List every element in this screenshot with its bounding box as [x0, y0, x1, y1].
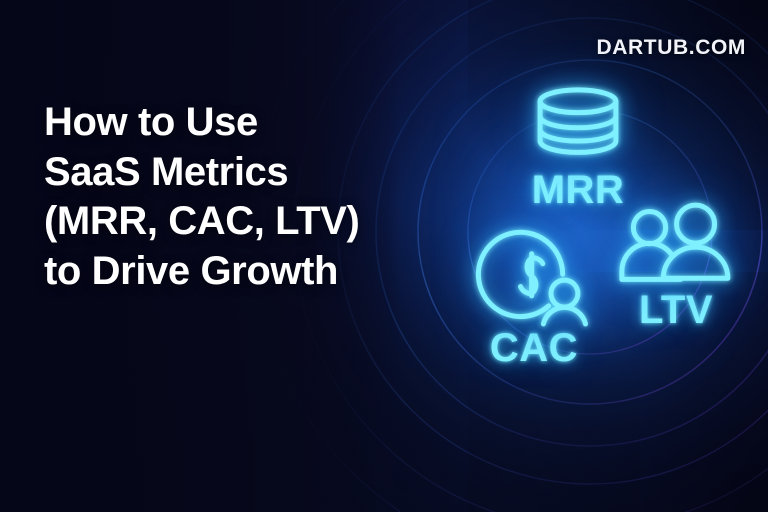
- two-people-icon: [615, 208, 737, 284]
- metric-mrr: MRR: [505, 88, 651, 213]
- dollar-circle-person-icon: [470, 228, 598, 324]
- metric-cac-label: CAC: [470, 326, 598, 371]
- metric-ltv: LTV: [615, 208, 737, 333]
- banner-canvas: DARTUB.COM How to Use SaaS Metrics (MRR,…: [0, 0, 768, 512]
- metric-ltv-label: LTV: [615, 288, 737, 333]
- metric-mrr-label: MRR: [505, 168, 651, 213]
- database-cylinder-icon: [505, 88, 651, 160]
- metric-cac: CAC: [470, 228, 598, 371]
- page-title: How to Use SaaS Metrics (MRR, CAC, LTV) …: [44, 98, 416, 296]
- brand-watermark: DARTUB.COM: [597, 36, 746, 60]
